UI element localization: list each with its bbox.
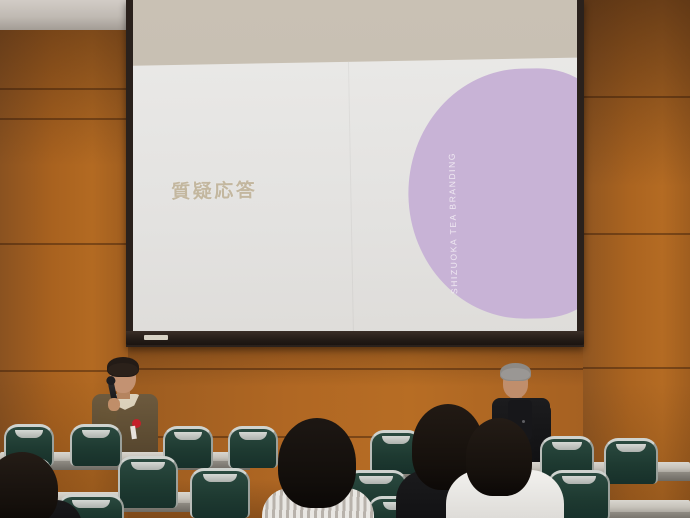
wall-seam <box>0 118 132 120</box>
jacket-button <box>522 420 525 423</box>
chair-notch <box>562 476 597 484</box>
chair-notch <box>131 462 165 470</box>
speaker-left-hand <box>108 398 120 411</box>
chair-notch <box>359 476 394 484</box>
wall-seam <box>0 243 132 245</box>
wall-seam <box>580 233 690 235</box>
chair <box>604 438 658 484</box>
chair-notch <box>552 442 582 450</box>
decorative-blob-shape <box>406 67 577 321</box>
presentation-slide: SHIZUOKA TEA BRANDING 質疑応答 <box>133 57 577 331</box>
chair-notch <box>203 474 237 482</box>
chair-notch <box>616 444 646 452</box>
wall-seam <box>0 88 132 90</box>
chair-back <box>228 426 278 468</box>
conference-room-photo: SHIZUOKA TEA BRANDING 質疑応答 <box>0 0 690 518</box>
chair-notch <box>382 436 411 444</box>
wall-seam <box>580 367 690 369</box>
chair-notch <box>239 432 267 440</box>
chair <box>70 424 122 466</box>
chair-back <box>70 424 122 466</box>
flower-corsage-icon <box>132 419 141 428</box>
chair <box>190 468 250 518</box>
speaker-right-hair <box>500 363 531 381</box>
slide-title: 質疑応答 <box>171 176 257 205</box>
chair-notch <box>72 500 109 508</box>
audience-head <box>278 418 356 508</box>
chair-notch <box>82 430 111 438</box>
wall-seam <box>580 96 690 98</box>
screen-crease <box>348 62 354 331</box>
screen-surface: SHIZUOKA TEA BRANDING 質疑応答 <box>133 0 577 331</box>
audience-head <box>466 418 532 496</box>
chair-back <box>190 468 250 518</box>
chair <box>228 426 278 468</box>
chair-back <box>604 438 658 484</box>
chair-back <box>118 456 178 508</box>
screen-bottom-casing <box>126 331 584 345</box>
chair-notch <box>174 432 202 440</box>
screen-brand-label <box>144 335 168 340</box>
projection-screen: SHIZUOKA TEA BRANDING 質疑応答 <box>126 0 584 347</box>
speaker-left-hair <box>107 357 139 377</box>
chair <box>118 456 178 508</box>
chair-notch <box>15 430 43 438</box>
